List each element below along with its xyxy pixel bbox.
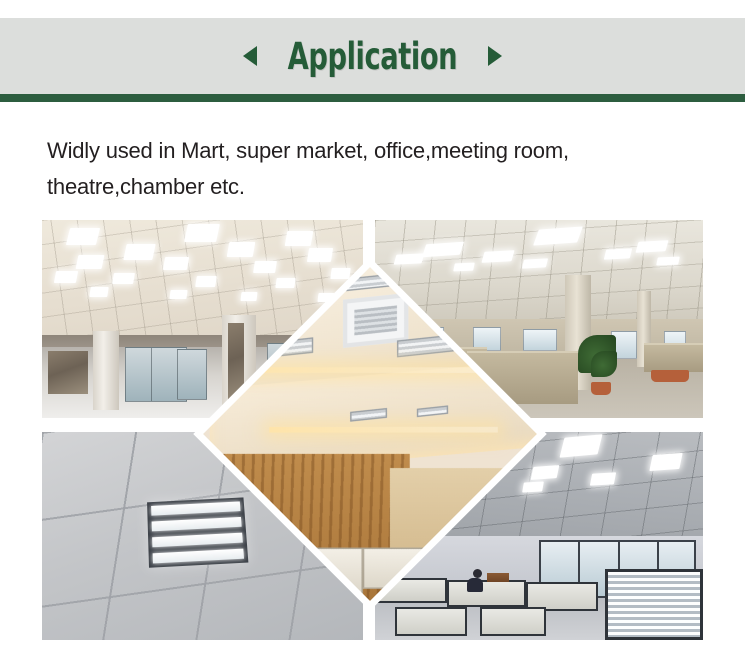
office-partition-2 (447, 580, 526, 607)
ac-cassette-grille (355, 306, 398, 336)
office-planter-box (651, 370, 689, 382)
louver-slat (153, 548, 244, 563)
description-line-2: theatre,chamber etc. (47, 169, 707, 205)
mall-glass-door-3 (177, 349, 207, 400)
header-title-row: Application (0, 18, 745, 94)
office-ceiling (375, 220, 703, 323)
office-window-blinds (605, 569, 703, 640)
office-desk (487, 573, 509, 582)
louver-slat (151, 501, 240, 515)
office-desk-panel-1 (480, 607, 546, 636)
cove-light-strip-1 (223, 367, 498, 373)
page-title: Application (288, 38, 458, 75)
description-line-1: Widly used in Mart, super market, office… (47, 133, 707, 169)
office-plant-pot (591, 382, 611, 395)
header-banner: Application (0, 18, 745, 94)
left-triangle-icon (243, 46, 257, 66)
cove-light-strip-2 (269, 427, 497, 433)
mall-column-left (93, 331, 119, 410)
louver-slat (152, 532, 243, 547)
office-window-3 (523, 329, 557, 351)
office-plant-foliage-2 (591, 351, 617, 377)
louver-slat (152, 516, 242, 530)
mall-wall-panel (48, 351, 88, 395)
office-desk-panel-2 (395, 607, 467, 636)
right-triangle-icon (488, 46, 502, 66)
louver-light-fixture (147, 497, 248, 567)
office-person-body (467, 578, 483, 592)
office-cubicle-3 (644, 343, 703, 373)
header-divider-rule (0, 94, 745, 102)
application-photo-collage (42, 220, 703, 640)
application-description: Widly used in Mart, super market, office… (47, 133, 707, 205)
